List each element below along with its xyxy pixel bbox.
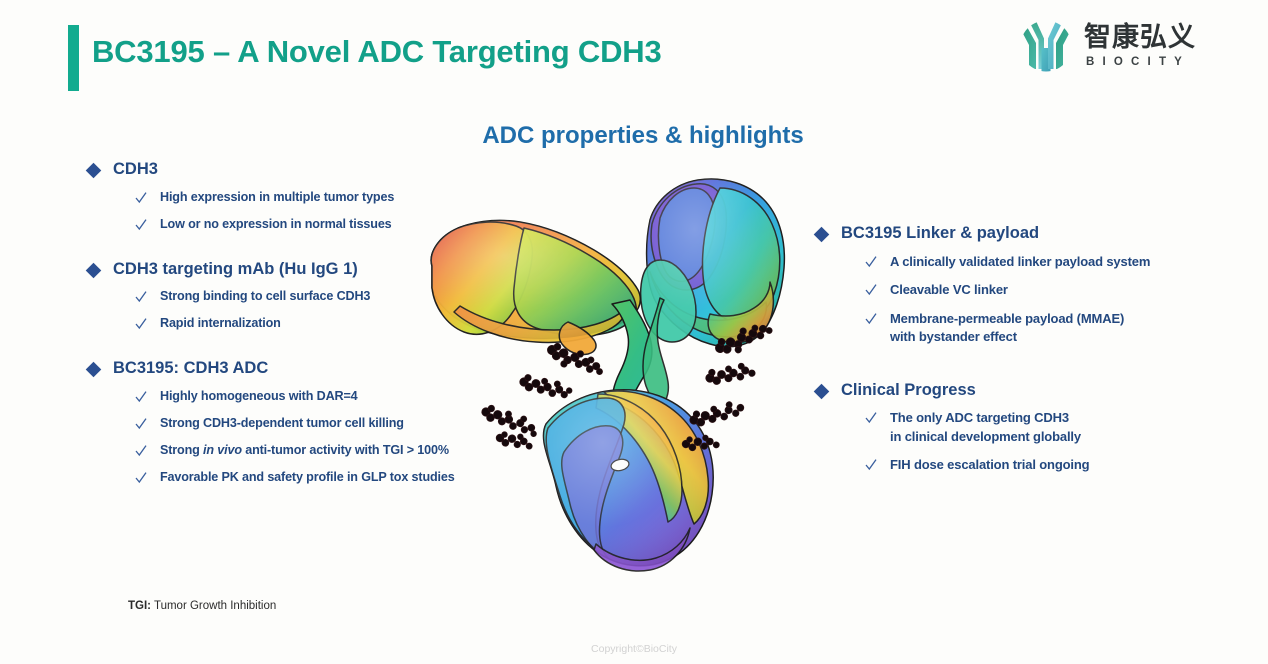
diamond-bullet-icon [86,362,102,378]
company-logo: 智康弘义 BIOCITY [1017,20,1196,72]
list-item-line-1: The only ADC targeting CDH3 [890,409,1081,427]
subitem-list: A clinically validated linker payload sy… [816,253,1196,347]
checkmark-icon [135,444,147,457]
checkmark-icon [865,283,877,296]
checkmark-icon [135,218,147,231]
copyright-notice: Copyright©BioCity [0,643,1268,655]
bullet-group-linker-payload: BC3195 Linker & payload A clinically val… [816,224,1196,347]
group-title: CDH3 [113,160,158,180]
checkmark-icon [865,255,877,268]
group-title: CDH3 targeting mAb (Hu IgG 1) [113,260,358,280]
list-item-label: Favorable PK and safety profile in GLP t… [160,469,455,487]
footnote-abbr: TGI: [128,600,151,612]
list-item-line-2: in clinical development globally [890,428,1081,446]
list-item: Membrane-permeable payload (MMAE) with b… [865,310,1196,347]
list-item-label: Strong CDH3-dependent tumor cell killing [160,415,404,433]
list-item-label: A clinically validated linker payload sy… [890,253,1150,271]
page-title: BC3195 – A Novel ADC Targeting CDH3 [92,34,662,70]
checkmark-icon [865,411,877,424]
adc-antibody-molecular-structure [424,172,804,572]
group-title: BC3195: CDH3 ADC [113,359,268,379]
list-item-label: High expression in multiple tumor types [160,189,394,207]
diamond-bullet-icon [814,227,830,243]
group-heading: Clinical Progress [816,381,1196,401]
checkmark-icon [135,390,147,403]
footnote-text: Tumor Growth Inhibition [151,600,276,612]
title-accent-bar [68,25,79,91]
diamond-bullet-icon [86,163,102,179]
checkmark-icon [135,417,147,430]
diamond-bullet-icon [86,262,102,278]
group-title: BC3195 Linker & payload [841,224,1039,244]
diamond-bullet-icon [814,383,830,399]
list-item-label: FIH dose escalation trial ongoing [890,456,1089,474]
list-item: Cleavable VC linker [865,281,1196,299]
list-item-line-2: with bystander effect [890,328,1124,346]
logo-chinese-name: 智康弘义 [1084,24,1196,52]
list-item-label: The only ADC targeting CDH3 in clinical … [890,409,1081,446]
bullet-group-clinical-progress: Clinical Progress The only ADC targeting… [816,381,1196,475]
group-heading: BC3195 Linker & payload [816,224,1196,244]
slide-canvas: BC3195 – A Novel ADC Targeting CDH3 [0,0,1268,664]
checkmark-icon [865,312,877,325]
list-item-label: Highly homogeneous with DAR=4 [160,388,358,406]
checkmark-icon [135,290,147,303]
biocity-antibody-logo-icon [1017,20,1075,72]
list-item-line-1: Membrane-permeable payload (MMAE) [890,310,1124,328]
list-item: FIH dose escalation trial ongoing [865,456,1196,474]
footnote-tgi: TGI: Tumor Growth Inhibition [128,600,276,612]
checkmark-icon [865,458,877,471]
list-item-label: Rapid internalization [160,315,281,333]
list-item-label: Low or no expression in normal tissues [160,216,392,234]
list-item-label: Cleavable VC linker [890,281,1008,299]
list-item-label: Strong binding to cell surface CDH3 [160,288,370,306]
checkmark-icon [135,317,147,330]
right-bullet-column: BC3195 Linker & payload A clinically val… [816,224,1196,509]
list-item-label: Strong in vivo anti-tumor activity with … [160,442,449,460]
section-subtitle: ADC properties & highlights [0,122,1268,150]
group-title: Clinical Progress [841,381,976,401]
logo-english-name: BIOCITY [1084,56,1196,68]
list-item: A clinically validated linker payload sy… [865,253,1196,271]
logo-wordmark: 智康弘义 BIOCITY [1084,24,1196,67]
list-item: The only ADC targeting CDH3 in clinical … [865,409,1196,446]
checkmark-icon [135,471,147,484]
list-item-label: Membrane-permeable payload (MMAE) with b… [890,310,1124,347]
checkmark-icon [135,191,147,204]
subitem-list: The only ADC targeting CDH3 in clinical … [816,409,1196,474]
